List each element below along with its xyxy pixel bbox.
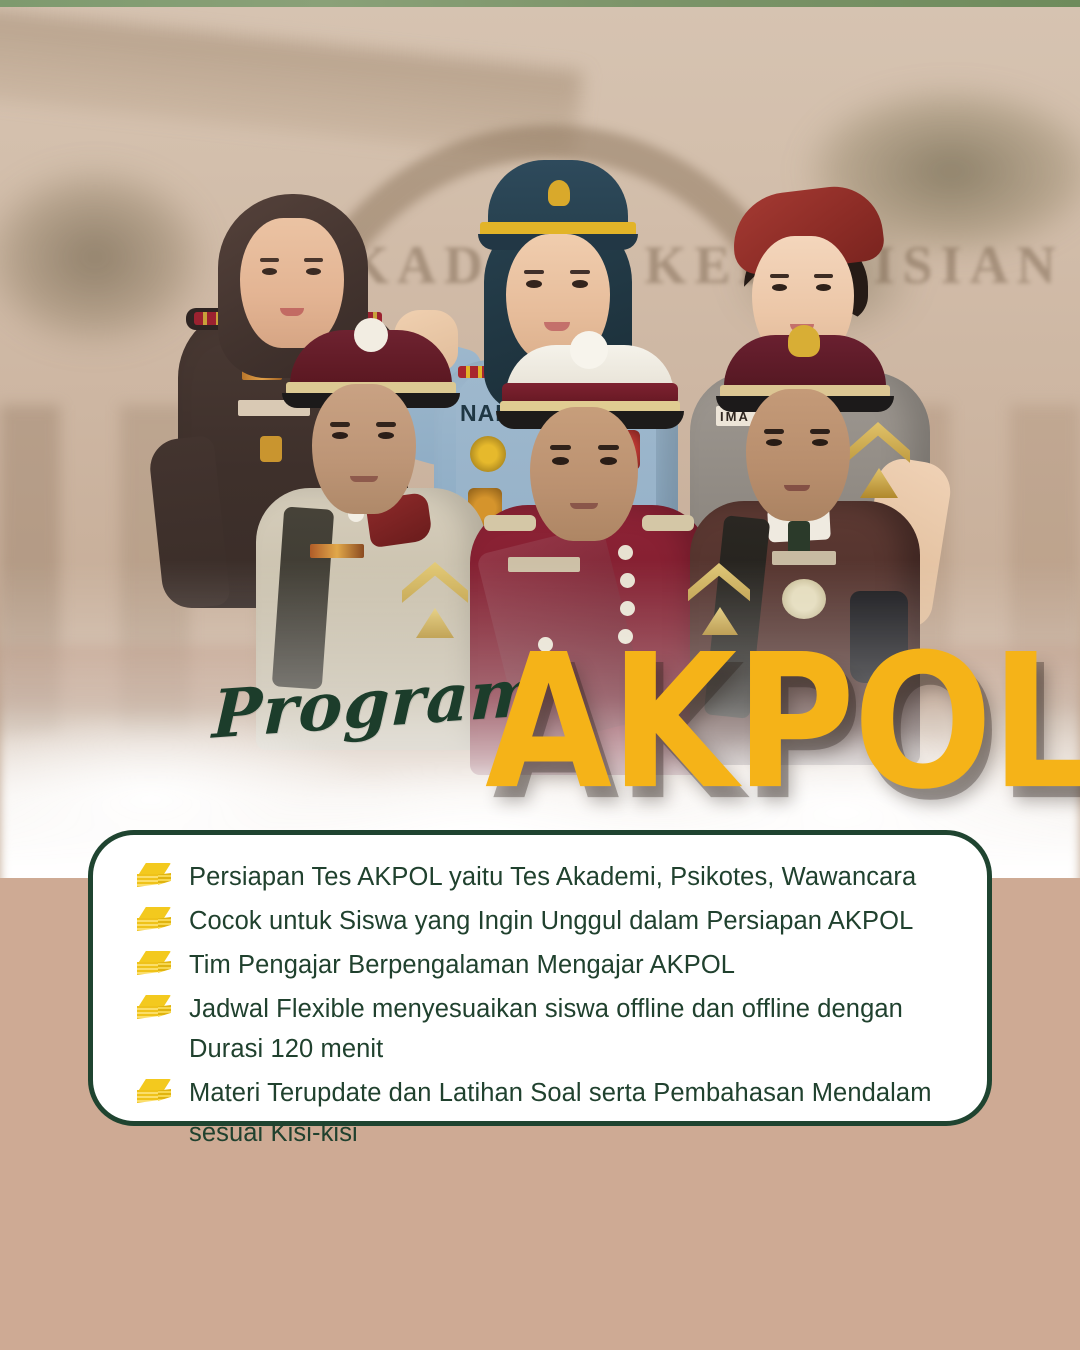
p5-epaulet-right <box>642 515 694 531</box>
p4-brow-left <box>330 422 350 427</box>
list-item: Persiapan Tes AKPOL yaitu Tes Akademi, P… <box>119 857 961 897</box>
p4-face <box>312 384 416 514</box>
p5-eye-right <box>600 457 617 465</box>
akpol-program-poster: AKADEMI KEPOLISIAN <box>0 0 1080 1350</box>
p2-eye-right <box>572 280 588 288</box>
p4-mouth <box>350 476 378 482</box>
p1-eye-left <box>262 268 277 275</box>
p5-epaulet-left <box>484 515 536 531</box>
p6-eye-left <box>766 439 782 446</box>
p6-brow-right <box>810 429 830 434</box>
p1-eye-right <box>306 268 321 275</box>
p5-brow-right <box>598 445 619 450</box>
feature-text: Jadwal Flexible menyesuaikan siswa offli… <box>189 989 961 1069</box>
p5-brow-left <box>550 445 571 450</box>
p6-cap-badge <box>788 325 820 357</box>
books-stack-icon <box>137 863 171 889</box>
features-card: Persiapan Tes AKPOL yaitu Tes Akademi, P… <box>88 830 992 1126</box>
p1-face <box>240 218 344 348</box>
p2-brow-left <box>524 270 544 274</box>
list-item: Materi Terupdate dan Latihan Soal serta … <box>119 1073 961 1153</box>
p3-brow-left <box>770 274 789 278</box>
p5-button-1 <box>618 545 633 560</box>
p5-button-2 <box>620 573 635 588</box>
list-item: Jadwal Flexible menyesuaikan siswa offli… <box>119 989 961 1069</box>
p6-eye-right <box>812 439 828 446</box>
p3-eye-right <box>816 284 831 291</box>
p6-name-tag <box>772 551 836 565</box>
p5-face <box>530 407 638 541</box>
p4-eye-right <box>378 432 394 439</box>
top-green-strip <box>0 0 1080 7</box>
p4-medal-ribbon <box>310 544 364 558</box>
p3-brow-right <box>814 274 833 278</box>
p3-eye-left <box>772 284 787 291</box>
p6-mouth <box>784 485 810 491</box>
list-item: Cocok untuk Siswa yang Ingin Unggul dala… <box>119 901 961 941</box>
feature-text: Cocok untuk Siswa yang Ingin Unggul dala… <box>189 901 913 941</box>
books-stack-icon <box>137 951 171 977</box>
p5-cap-badge <box>570 331 608 369</box>
p6-face <box>746 389 850 521</box>
feature-text: Tim Pengajar Berpengalaman Mengajar AKPO… <box>189 945 735 985</box>
books-stack-icon <box>137 995 171 1021</box>
features-list: Persiapan Tes AKPOL yaitu Tes Akademi, P… <box>119 857 961 1153</box>
poster-title: Program AKPOL <box>0 640 1080 830</box>
p6-brow-left <box>764 429 784 434</box>
feature-text: Persiapan Tes AKPOL yaitu Tes Akademi, P… <box>189 857 916 897</box>
p4-cap-badge <box>354 318 388 352</box>
books-stack-icon <box>137 1079 171 1105</box>
title-display-word: AKPOL <box>485 630 1080 815</box>
p1-brow-left <box>260 258 279 262</box>
p5-eye-left <box>552 457 569 465</box>
feature-text: Materi Terupdate dan Latihan Soal serta … <box>189 1073 961 1153</box>
p1-brow-right <box>304 258 323 262</box>
p4-eye-left <box>332 432 348 439</box>
p2-brow-right <box>570 270 590 274</box>
p5-name-tag <box>508 557 580 572</box>
p2-eye-left <box>526 280 542 288</box>
p4-brow-right <box>376 422 396 427</box>
p5-mouth <box>570 503 598 509</box>
p6-medal <box>782 579 826 619</box>
p2-cap-badge <box>548 180 570 206</box>
list-item: Tim Pengajar Berpengalaman Mengajar AKPO… <box>119 945 961 985</box>
books-stack-icon <box>137 907 171 933</box>
